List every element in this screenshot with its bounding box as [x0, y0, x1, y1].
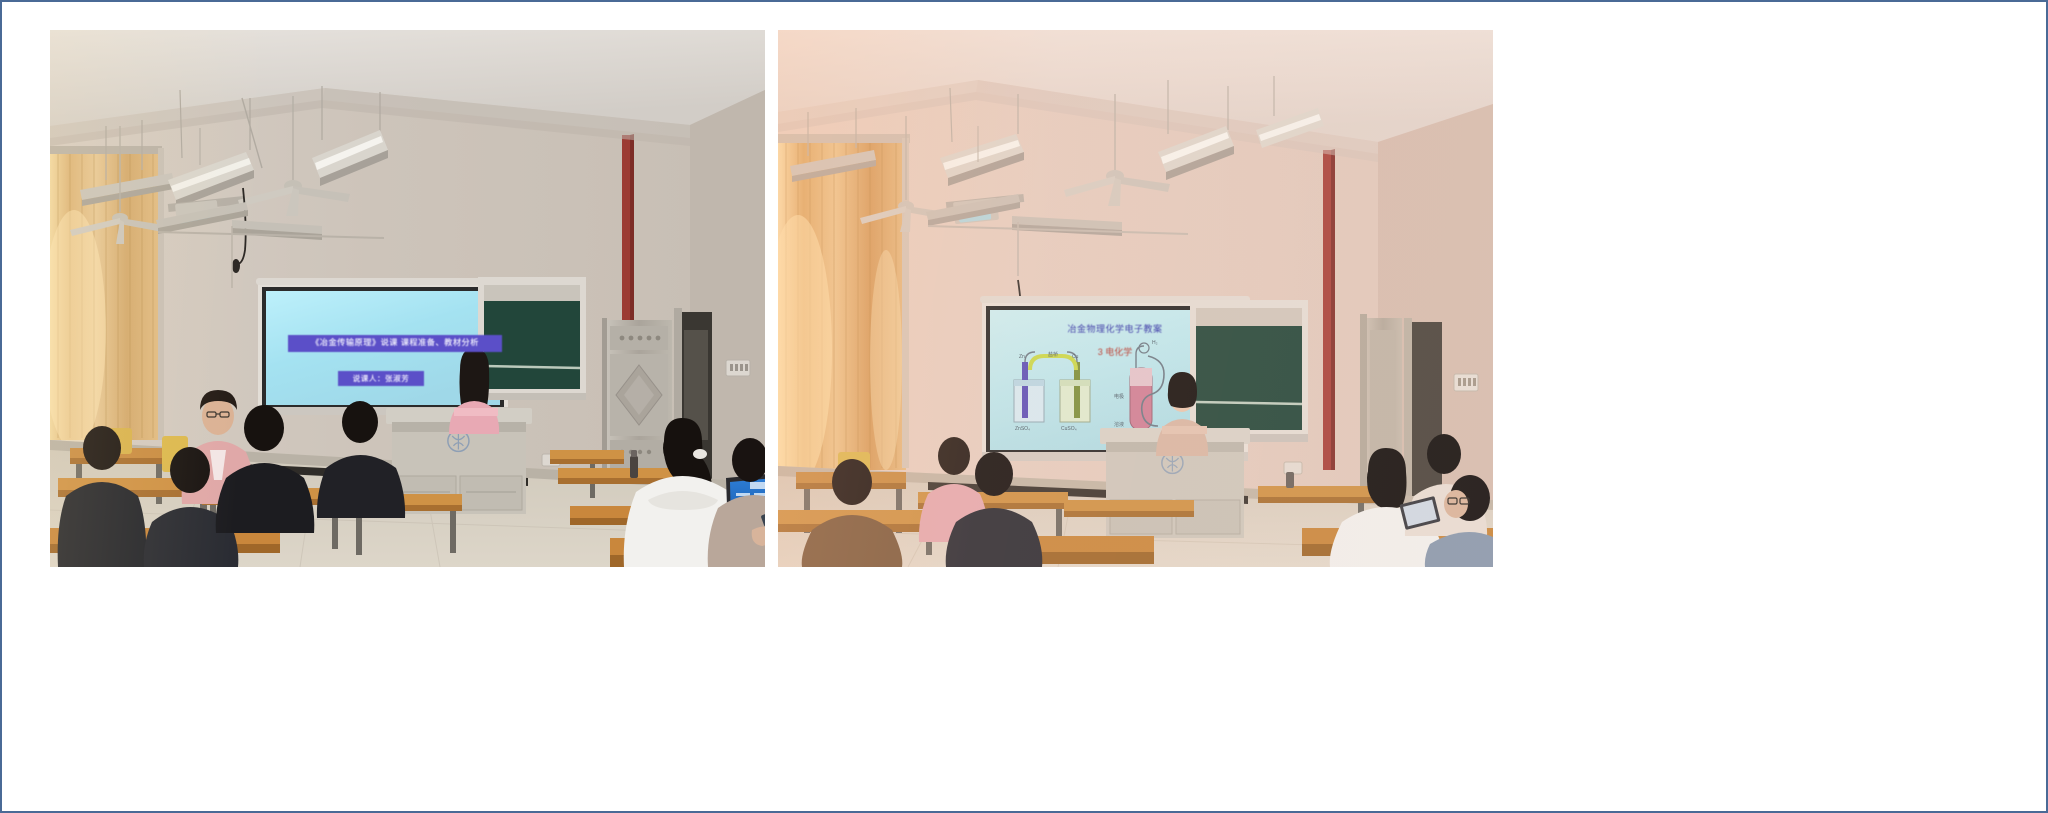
page-canvas: 《冶金传输原理》说课 课程准备、教材分析 说课人：张淑芳: [2, 2, 2046, 811]
svg-text:电极: 电极: [1114, 393, 1124, 400]
svg-text:溶液: 溶液: [1114, 421, 1124, 428]
svg-text:CuSO₄: CuSO₄: [1061, 426, 1077, 432]
right-photo-scene: Zn盐桥Cu ZnSO₄CuSO₄ H₂电极溶液: [778, 30, 1493, 567]
right-classroom-photo[interactable]: Zn盐桥Cu ZnSO₄CuSO₄ H₂电极溶液: [778, 30, 1493, 567]
slide-subtitle-right: 3 电化学: [990, 345, 1240, 359]
slide-presenter-banner-left: 说课人：张淑芳: [338, 371, 424, 386]
left-classroom-photo[interactable]: 《冶金传输原理》说课 课程准备、教材分析 说课人：张淑芳: [50, 30, 765, 567]
document-page: 《冶金传输原理》说课 课程准备、教材分析 说课人：张淑芳: [0, 0, 2048, 813]
slide-title-right: 冶金物理化学电子教案: [990, 322, 1240, 336]
left-photo-scene: [50, 30, 765, 567]
slide-title-banner-left: 《冶金传输原理》说课 课程准备、教材分析: [288, 335, 502, 352]
svg-text:ZnSO₄: ZnSO₄: [1015, 426, 1030, 432]
